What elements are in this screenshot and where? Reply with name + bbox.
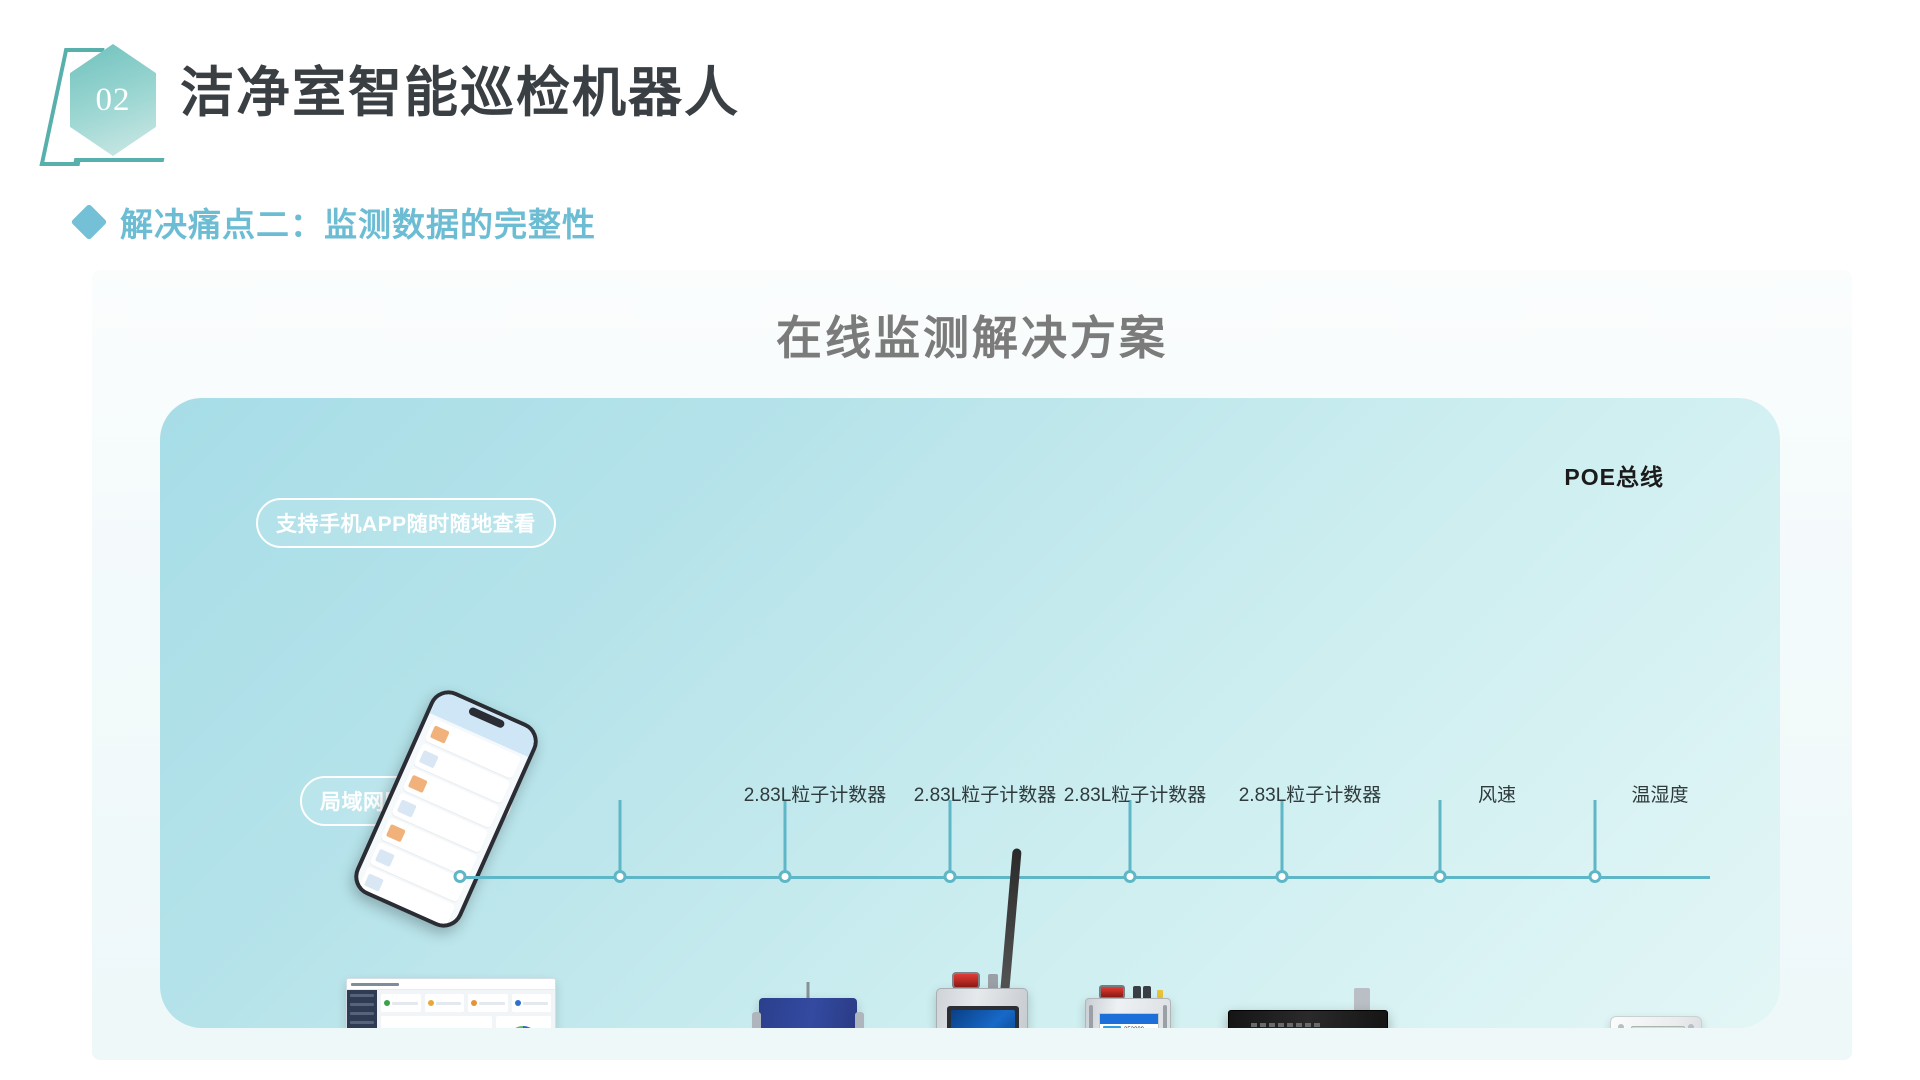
- bracket-decoration-bottom: [74, 158, 165, 162]
- screen-header: [1100, 1014, 1158, 1024]
- device-body: 352000 2900 53 1 ⚲ ✖ ▲ ●: [1085, 998, 1171, 1028]
- kpi-card: [512, 994, 552, 1012]
- device-body: [936, 988, 1028, 1028]
- dashboard-titlebar: [347, 979, 555, 990]
- panel-title: 在线监测解决方案: [92, 302, 1852, 368]
- riser-1: [619, 800, 622, 872]
- device-temp-humidity-sensor: RH 00.0% T 00.0C LEFOO: [1610, 1016, 1702, 1028]
- dashboard-main: [377, 990, 555, 1028]
- page-title: 洁净室智能巡检机器人: [180, 48, 740, 127]
- line-chart-widget: [381, 1016, 492, 1028]
- device-label-particle-counter-1: 2.83L粒子计数器: [744, 780, 887, 807]
- diamond-icon: [71, 204, 108, 241]
- app-badge: 支持手机APP随时随地查看: [256, 498, 556, 548]
- kpi-card: [425, 994, 465, 1012]
- list-thumb: [419, 750, 439, 768]
- riser-3: [949, 800, 952, 872]
- slide-root: 02 洁净室智能巡检机器人 解决痛点二：监测数据的完整性 在线监测解决方案 PO…: [0, 0, 1920, 1080]
- dashboard-title-placeholder: [351, 983, 399, 986]
- device-label-wind-speed: 风速: [1478, 780, 1516, 807]
- bus-node-dashboard: [454, 870, 467, 883]
- dashboard-kpi-row: [381, 994, 551, 1012]
- sensor-housing: 0 LEFOO: [1767, 1020, 1780, 1028]
- reading-row: 352000: [1100, 1024, 1158, 1028]
- list-thumb: [375, 848, 395, 866]
- antenna-icon: [1000, 848, 1022, 994]
- device-body: [1228, 1010, 1388, 1028]
- device-screen: 352000 2900 53 1 ⚲ ✖ ▲ ●: [1099, 1013, 1159, 1028]
- riser-5: [1281, 800, 1284, 872]
- monitoring-dashboard-screenshot: [346, 978, 556, 1028]
- mount-bracket-left: [752, 1012, 761, 1028]
- dashboard-sidebar: [347, 990, 377, 1028]
- kpi-card: [468, 994, 508, 1012]
- device-label-particle-counter-2: 2.83L粒子计数器: [914, 780, 1057, 807]
- rail-left: [1089, 1005, 1093, 1028]
- mount-bracket-right: [855, 1012, 864, 1028]
- kpi-card: [381, 994, 421, 1012]
- sensor-housing: RH 00.0% T 00.0C LEFOO: [1610, 1016, 1702, 1028]
- poe-bus-label: POE总线: [1564, 458, 1664, 492]
- list-thumb: [386, 824, 406, 842]
- device-particle-counter-1: 粒子计数器: [759, 998, 857, 1028]
- riser-4: [1129, 800, 1132, 872]
- subtitle-text: 解决痛点二：监测数据的完整性: [120, 198, 596, 246]
- dashboard-panels: [381, 1016, 551, 1028]
- content-panel: 在线监测解决方案 POE总线 支持手机APP随时随地查看 局域网网页端登陆: [92, 270, 1852, 1060]
- status-led: [1157, 990, 1163, 998]
- device-body: 粒子计数器: [759, 998, 857, 1028]
- list-thumb: [364, 873, 384, 891]
- list-thumb: [430, 725, 450, 743]
- list-thumb: [397, 799, 417, 817]
- device-label-particle-counter-3: 2.83L粒子计数器: [1064, 780, 1207, 807]
- subtitle-row: 解决痛点二：监测数据的完整性: [76, 198, 596, 246]
- list-thumb: [408, 774, 428, 792]
- device-particle-counter-3: 352000 2900 53 1 ⚲ ✖ ▲ ●: [1085, 998, 1171, 1028]
- poe-bus-line: [460, 876, 1710, 879]
- device-pressure-diff-sensor: 0 LEFOO: [1767, 1020, 1780, 1028]
- riser-2: [784, 800, 787, 872]
- riser-6: [1439, 800, 1442, 872]
- riser-7: [1594, 800, 1597, 872]
- device-caption-text: [1251, 1023, 1321, 1027]
- section-number: 02: [70, 44, 156, 156]
- inlet-port-top: [1354, 988, 1370, 1012]
- dashboard-body: [347, 990, 555, 1028]
- screw-icon: [1688, 1024, 1694, 1028]
- solution-diagram: POE总线 支持手机APP随时随地查看 局域网网页端登陆: [160, 398, 1780, 1028]
- alarm-button: [952, 972, 980, 989]
- device-label-temp-humidity: 温湿度: [1631, 780, 1688, 807]
- alarm-button: [1099, 985, 1125, 999]
- rail-right: [1163, 1005, 1167, 1028]
- screw-icon: [1618, 1024, 1624, 1028]
- device-label-particle-counter-4: 2.83L粒子计数器: [1239, 780, 1382, 807]
- phone-notch: [468, 706, 506, 729]
- reading-value: 352000: [1124, 1027, 1144, 1029]
- device-particle-counter-2: [936, 988, 1028, 1028]
- section-number-badge: 02: [52, 38, 164, 162]
- donut-chart-widget: [496, 1016, 551, 1028]
- device-particle-counter-4: [1228, 1010, 1388, 1028]
- device-screen: [947, 1006, 1019, 1028]
- reading-tag: [1103, 1026, 1121, 1028]
- lcd-display: RH 00.0% T 00.0C: [1631, 1026, 1685, 1028]
- screen-content: [951, 1010, 1015, 1028]
- donut-chart: [507, 1026, 539, 1028]
